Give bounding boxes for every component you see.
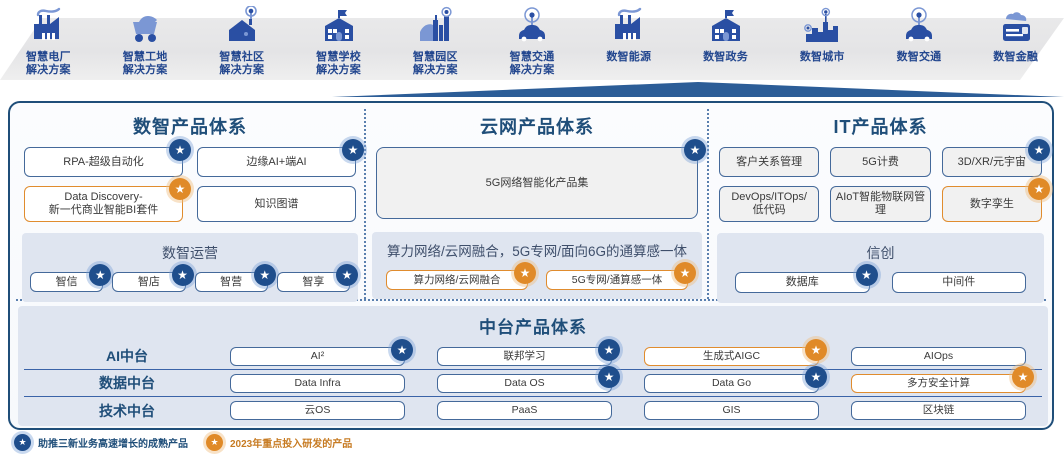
banner-arch-decoration bbox=[332, 82, 1064, 97]
mature-product-star-icon: ★ bbox=[89, 264, 111, 286]
column-title-it: IT产品体系 bbox=[713, 107, 1048, 147]
it-product-box-6[interactable]: 数字孪生★ bbox=[942, 186, 1042, 222]
product-label: AIOps bbox=[924, 350, 953, 363]
car-antenna-icon bbox=[899, 2, 939, 48]
it-product-box-5[interactable]: AIoT智能物联网管理 bbox=[830, 186, 930, 222]
product-system-card: 数智产品体系 RPA-超级自动化★边缘AI+端AI★Data Discovery… bbox=[8, 101, 1054, 430]
yunwang-compute-box-1[interactable]: 算力网络/云网融合★ bbox=[386, 270, 528, 290]
it-product-grid: 客户关系管理5G计费3D/XR/元宇宙★DevOps/ITOps/ 低代码AIo… bbox=[713, 147, 1048, 222]
middle-platform-row: AI中台AI²★联邦学习★生成式AIGC★AIOps bbox=[24, 343, 1042, 370]
product-label: 知识图谱 bbox=[255, 198, 299, 211]
rd-focus-star-icon: ★ bbox=[1028, 178, 1050, 200]
banner-item-label: 智慧电厂 解决方案 bbox=[26, 51, 71, 77]
mature-product-star-icon: ★ bbox=[1028, 139, 1050, 161]
yunwang-compute-panel: 算力网络/云网融合，5G专网/面向6G的通算感一体 算力网络/云网融合★5G专网… bbox=[372, 232, 702, 299]
banner-item-11[interactable]: 数智金融 bbox=[967, 0, 1064, 64]
it-xinchuang-box-1[interactable]: 数据库★ bbox=[735, 272, 870, 293]
rd-focus-star-icon: ★ bbox=[206, 434, 223, 451]
shuzhi-product-box-1[interactable]: RPA-超级自动化★ bbox=[24, 147, 183, 177]
banner-item-2[interactable]: 智慧工地 解决方案 bbox=[97, 0, 194, 77]
mature-product-star-icon: ★ bbox=[254, 264, 276, 286]
middle-platform-cells: Data InfraData OS★Data Go★多方安全计算★ bbox=[230, 374, 1042, 393]
school-flag-icon bbox=[319, 2, 359, 48]
mature-product-star-icon: ★ bbox=[336, 264, 358, 286]
legend-label: 2023年重点投入研发的产品 bbox=[230, 435, 352, 450]
product-label: 3D/XR/元宇宙 bbox=[958, 156, 1026, 169]
solutions-banner: 智慧电厂 解决方案 智慧工地 解决方案 智慧社区 解决方案 智慧学校 解决方案 … bbox=[0, 0, 1064, 88]
mature-product-star-icon: ★ bbox=[172, 264, 194, 286]
shuzhi-operations-row: 智信★智店★智营★智享★ bbox=[30, 272, 350, 292]
product-label: DevOps/ITOps/ 低代码 bbox=[731, 191, 807, 217]
mature-product-star-icon: ★ bbox=[342, 139, 364, 161]
middle-platform-box-1-2[interactable]: 联邦学习★ bbox=[437, 347, 612, 366]
banner-item-9[interactable]: 数智城市 bbox=[774, 0, 871, 64]
mature-product-star-icon: ★ bbox=[169, 139, 191, 161]
banner-item-label: 智慧社区 解决方案 bbox=[219, 51, 264, 77]
rd-focus-star-icon: ★ bbox=[1012, 366, 1034, 388]
banner-item-label: 智慧园区 解决方案 bbox=[413, 51, 458, 77]
product-label: 区块链 bbox=[923, 404, 955, 417]
banner-item-4[interactable]: 智慧学校 解决方案 bbox=[290, 0, 387, 77]
school-flag-icon bbox=[706, 2, 746, 48]
shuzhi-operation-box-3[interactable]: 智营★ bbox=[195, 272, 268, 292]
middle-platform-row-label: 数据中台 bbox=[24, 373, 230, 393]
it-product-box-1[interactable]: 客户关系管理 bbox=[719, 147, 819, 177]
banner-item-label: 智慧工地 解决方案 bbox=[123, 51, 168, 77]
legend-item-2: ★ 2023年重点投入研发的产品 bbox=[206, 434, 352, 451]
it-product-box-2[interactable]: 5G计费 bbox=[830, 147, 930, 177]
middle-platform-box-3-1[interactable]: 云OS bbox=[230, 401, 405, 420]
column-yunwang: 云网产品体系 5G网络智能化产品集 ★ 算力网络/云网融合，5G专网/面向6G的… bbox=[370, 107, 704, 299]
banner-item-3[interactable]: 智慧社区 解决方案 bbox=[193, 0, 290, 77]
middle-platform-box-2-3[interactable]: Data Go★ bbox=[644, 374, 819, 393]
credit-card-icon bbox=[996, 2, 1036, 48]
product-label: Data Go bbox=[712, 377, 751, 390]
middle-platform-cells: AI²★联邦学习★生成式AIGC★AIOps bbox=[230, 347, 1042, 366]
column-divider-2 bbox=[707, 109, 709, 299]
product-label: PaaS bbox=[512, 404, 538, 417]
product-label: GIS bbox=[722, 404, 740, 417]
product-label: Data Infra bbox=[294, 377, 340, 390]
mature-product-star-icon: ★ bbox=[598, 366, 620, 388]
banner-item-7[interactable]: 数智能源 bbox=[580, 0, 677, 64]
industrial-park-icon bbox=[415, 2, 455, 48]
middle-platform-box-1-1[interactable]: AI²★ bbox=[230, 347, 405, 366]
product-label: RPA-超级自动化 bbox=[63, 156, 143, 169]
rd-focus-star-icon: ★ bbox=[514, 262, 536, 284]
banner-item-label: 智慧交通 解决方案 bbox=[510, 51, 555, 77]
product-label: Data Discovery- 新一代商业智能BI套件 bbox=[49, 191, 158, 217]
banner-item-6[interactable]: 智慧交通 解决方案 bbox=[484, 0, 581, 77]
middle-platform-row-label: 技术中台 bbox=[24, 401, 230, 421]
product-label: 联邦学习 bbox=[504, 350, 546, 363]
shuzhi-product-grid: RPA-超级自动化★边缘AI+端AI★Data Discovery- 新一代商业… bbox=[18, 147, 362, 222]
banner-item-label: 智慧学校 解决方案 bbox=[316, 51, 361, 77]
column-title-shuzhi: 数智产品体系 bbox=[18, 107, 362, 147]
banner-item-label: 数智能源 bbox=[606, 51, 651, 64]
product-label: 客户关系管理 bbox=[736, 156, 802, 169]
shuzhi-product-box-2[interactable]: 边缘AI+端AI★ bbox=[197, 147, 356, 177]
mature-product-star-icon: ★ bbox=[684, 139, 706, 161]
yunwang-compute-box-2[interactable]: 5G专网/通算感一体★ bbox=[546, 270, 688, 290]
middle-platform-box-1-3[interactable]: 生成式AIGC★ bbox=[644, 347, 819, 366]
middle-platform-box-2-4[interactable]: 多方安全计算★ bbox=[851, 374, 1026, 393]
banner-item-label: 数智金融 bbox=[993, 51, 1038, 64]
middle-platform-title: 中台产品体系 bbox=[24, 310, 1042, 343]
power-plant-icon bbox=[609, 2, 649, 48]
middle-platform-box-2-2[interactable]: Data OS★ bbox=[437, 374, 612, 393]
middle-platform-box-1-4[interactable]: AIOps bbox=[851, 347, 1026, 366]
yunwang-compute-title: 算力网络/云网融合，5G专网/面向6G的通算感一体 bbox=[378, 238, 696, 270]
banner-item-8[interactable]: 数智政务 bbox=[677, 0, 774, 64]
yunwang-main-product-label: 5G网络智能化产品集 bbox=[486, 177, 589, 190]
middle-platform-box-3-3[interactable]: GIS bbox=[644, 401, 819, 420]
banner-item-5[interactable]: 智慧园区 解决方案 bbox=[387, 0, 484, 77]
product-label: 多方安全计算 bbox=[907, 377, 970, 390]
product-label: 算力网络/云网融合 bbox=[414, 274, 501, 287]
middle-platform-row: 数据中台Data InfraData OS★Data Go★多方安全计算★ bbox=[24, 370, 1042, 397]
middle-platform-box-2-1[interactable]: Data Infra bbox=[230, 374, 405, 393]
product-label: AIoT智能物联网管理 bbox=[831, 191, 929, 217]
product-label: 智信 bbox=[56, 276, 78, 289]
mature-product-star-icon: ★ bbox=[805, 366, 827, 388]
it-xinchuang-box-2[interactable]: 中间件 bbox=[892, 272, 1027, 293]
middle-platform-box-3-4[interactable]: 区块链 bbox=[851, 401, 1026, 420]
column-divider-1 bbox=[364, 109, 366, 299]
product-label: 智营 bbox=[220, 276, 242, 289]
product-label: 智享 bbox=[302, 276, 324, 289]
rd-focus-star-icon: ★ bbox=[674, 262, 696, 284]
mature-product-star-icon: ★ bbox=[391, 339, 413, 361]
rd-focus-star-icon: ★ bbox=[169, 178, 191, 200]
middle-platform-rows: AI中台AI²★联邦学习★生成式AIGC★AIOps数据中台Data Infra… bbox=[24, 343, 1042, 424]
legend-item-1: ★ 助推三新业务高速增长的成熟产品 bbox=[14, 434, 188, 451]
shuzhi-operation-box-4[interactable]: 智享★ bbox=[277, 272, 350, 292]
legend: ★ 助推三新业务高速增长的成熟产品★ 2023年重点投入研发的产品 bbox=[14, 434, 352, 451]
banner-item-list: 智慧电厂 解决方案 智慧工地 解决方案 智慧社区 解决方案 智慧学校 解决方案 … bbox=[0, 0, 1064, 88]
mature-product-star-icon: ★ bbox=[14, 434, 31, 451]
column-title-yunwang: 云网产品体系 bbox=[370, 107, 704, 147]
it-product-box-3[interactable]: 3D/XR/元宇宙★ bbox=[942, 147, 1042, 177]
banner-item-10[interactable]: 数智交通 bbox=[871, 0, 968, 64]
product-label: AI² bbox=[311, 350, 324, 363]
banner-item-label: 数智交通 bbox=[897, 51, 942, 64]
middle-platform-row: 技术中台云OSPaaSGIS区块链 bbox=[24, 397, 1042, 424]
yunwang-compute-row: 算力网络/云网融合★5G专网/通算感一体★ bbox=[378, 270, 696, 290]
it-xinchuang-row: 数据库★中间件 bbox=[725, 272, 1036, 293]
product-label: 云OS bbox=[305, 404, 331, 417]
product-label: 数据库 bbox=[786, 276, 819, 289]
product-label: 中间件 bbox=[942, 276, 975, 289]
mature-product-star-icon: ★ bbox=[598, 339, 620, 361]
middle-platform-cells: 云OSPaaSGIS区块链 bbox=[230, 401, 1042, 420]
product-label: 边缘AI+端AI bbox=[246, 156, 306, 169]
column-it: IT产品体系 客户关系管理5G计费3D/XR/元宇宙★DevOps/ITOps/… bbox=[713, 107, 1048, 303]
product-label: 智店 bbox=[138, 276, 160, 289]
product-label: 数字孪生 bbox=[970, 198, 1014, 211]
middle-platform-row-label: AI中台 bbox=[24, 346, 230, 366]
column-shuzhi: 数智产品体系 RPA-超级自动化★边缘AI+端AI★Data Discovery… bbox=[18, 107, 362, 302]
mine-cart-icon bbox=[125, 2, 165, 48]
mature-product-star-icon: ★ bbox=[856, 264, 878, 286]
it-xinchuang-title: 信创 bbox=[725, 240, 1036, 272]
product-label: 5G计费 bbox=[862, 156, 899, 169]
banner-item-1[interactable]: 智慧电厂 解决方案 bbox=[0, 0, 97, 77]
rd-focus-star-icon: ★ bbox=[805, 339, 827, 361]
shuzhi-operation-box-1[interactable]: 智信★ bbox=[30, 272, 103, 292]
power-plant-icon bbox=[28, 2, 68, 48]
cityscape-icon bbox=[802, 2, 842, 48]
car-antenna-icon bbox=[512, 2, 552, 48]
yunwang-main-product-box[interactable]: 5G网络智能化产品集 ★ bbox=[376, 147, 698, 219]
it-xinchuang-panel: 信创 数据库★中间件 bbox=[717, 233, 1044, 303]
middle-platform-section: 中台产品体系 AI中台AI²★联邦学习★生成式AIGC★AIOps数据中台Dat… bbox=[18, 306, 1048, 426]
product-label: Data OS bbox=[504, 377, 544, 390]
shuzhi-product-box-4[interactable]: 知识图谱 bbox=[197, 186, 356, 222]
product-label: 5G专网/通算感一体 bbox=[572, 274, 662, 287]
it-product-box-4[interactable]: DevOps/ITOps/ 低代码 bbox=[719, 186, 819, 222]
banner-item-label: 数智政务 bbox=[703, 51, 748, 64]
middle-platform-box-3-2[interactable]: PaaS bbox=[437, 401, 612, 420]
shuzhi-operation-box-2[interactable]: 智店★ bbox=[112, 272, 185, 292]
legend-label: 助推三新业务高速增长的成熟产品 bbox=[38, 435, 188, 450]
shuzhi-operations-panel: 数智运营 智信★智店★智营★智享★ bbox=[22, 233, 358, 302]
banner-item-label: 数智城市 bbox=[800, 51, 845, 64]
house-antenna-icon bbox=[222, 2, 262, 48]
product-label: 生成式AIGC bbox=[703, 350, 760, 363]
shuzhi-product-box-3[interactable]: Data Discovery- 新一代商业智能BI套件★ bbox=[24, 186, 183, 222]
